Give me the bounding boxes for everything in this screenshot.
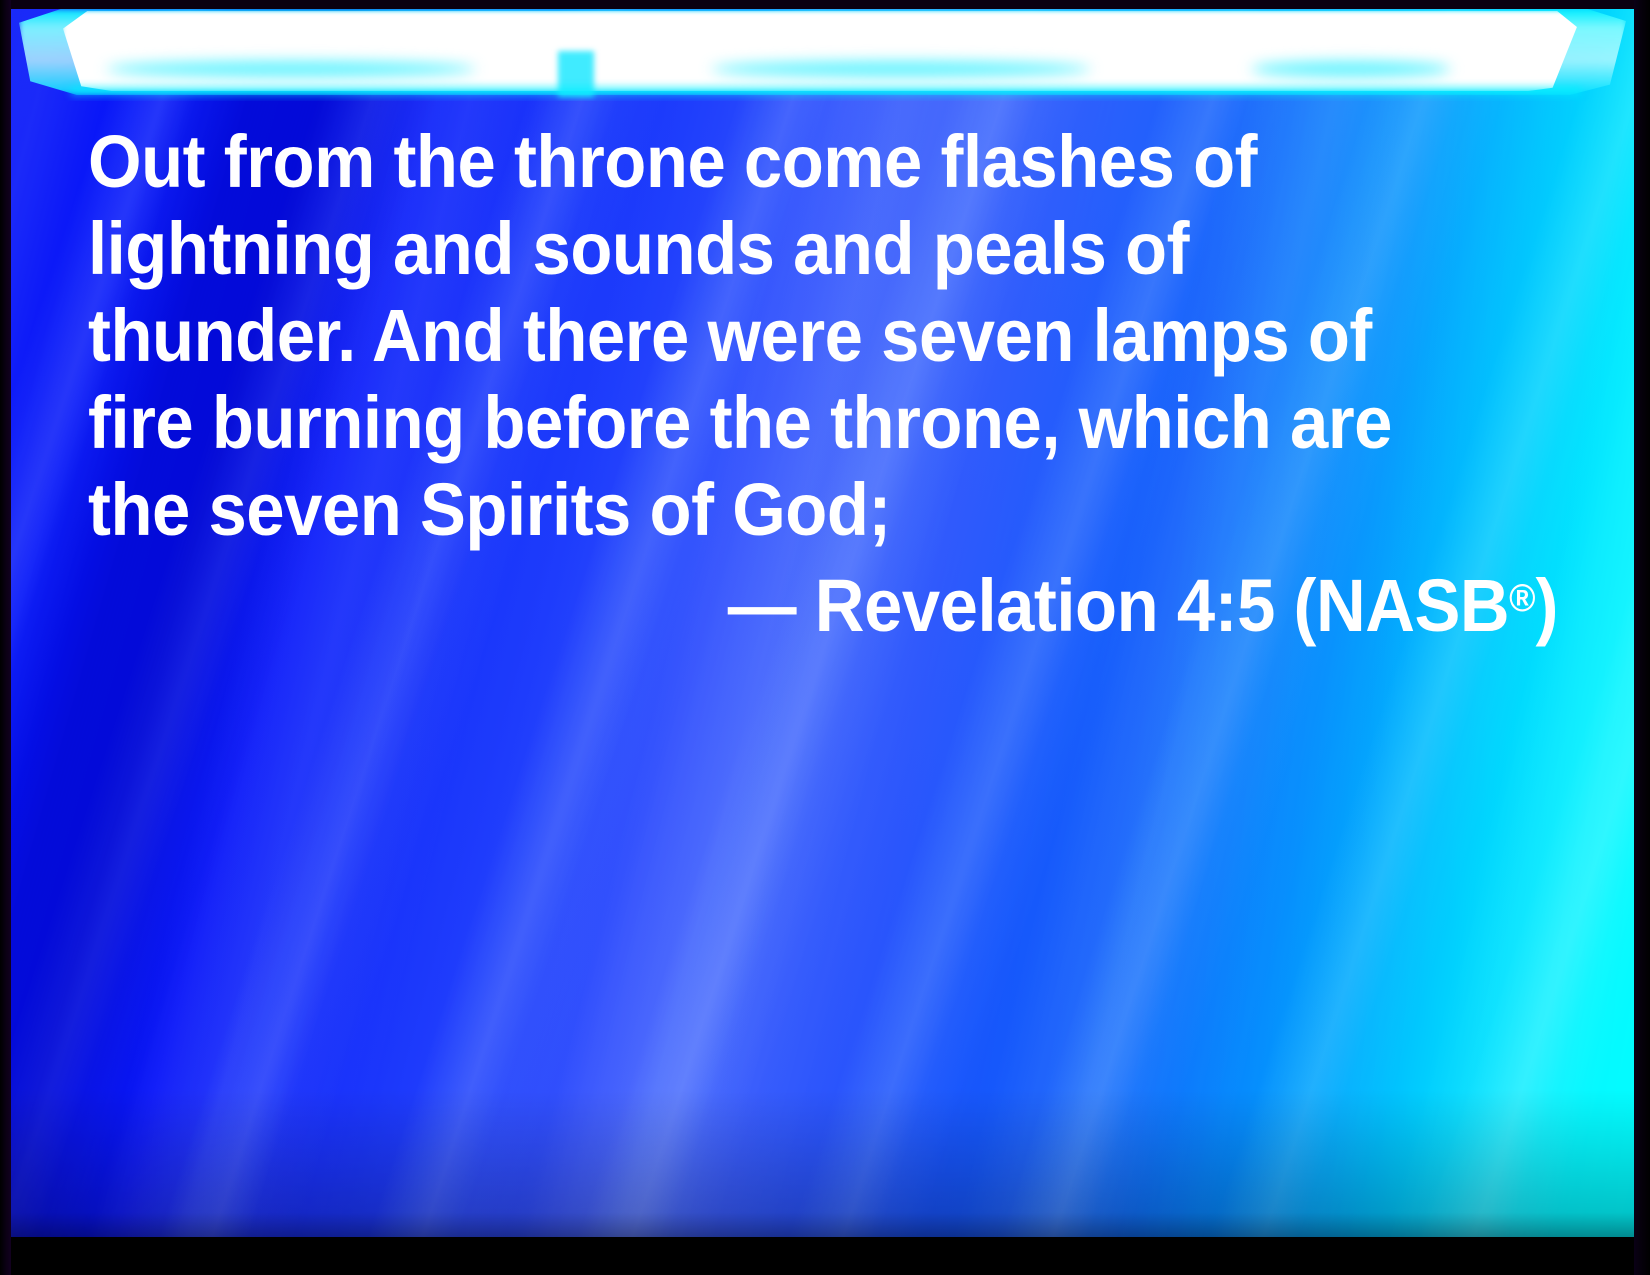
frame-border-right (1634, 0, 1650, 1275)
verse-line-5: the seven Spirits of God; (88, 466, 1455, 553)
light-bar-wisp-center (711, 61, 1091, 77)
verse-text-block: Out from the throne come flashes of ligh… (88, 118, 1558, 649)
verse-line-1: Out from the throne come flashes of (88, 118, 1455, 205)
registered-trademark-icon: ® (1509, 577, 1535, 620)
verse-line-4: fire burning before the throne, which ar… (88, 379, 1455, 466)
frame-border-left (0, 0, 11, 1275)
attribution-closing-paren: ) (1536, 564, 1558, 647)
frame-border-top (0, 0, 1650, 9)
verse-line-3: thunder. And there were seven lamps of (88, 292, 1455, 379)
verse-attribution: — Revelation 4:5 (NASB®) (191, 555, 1558, 649)
light-bar-white-core (63, 11, 1583, 91)
attribution-main-text: — Revelation 4:5 (NASB (728, 564, 1509, 647)
light-bar-underglow (71, 87, 1581, 99)
top-light-bar (11, 9, 1634, 101)
scripture-slide: Out from the throne come flashes of ligh… (0, 0, 1650, 1275)
light-bar-wisp-right (1251, 61, 1451, 77)
light-bar-wisp-left (106, 61, 476, 77)
verse-line-2: lightning and sounds and peals of (88, 205, 1455, 292)
frame-border-bottom (0, 1237, 1650, 1275)
